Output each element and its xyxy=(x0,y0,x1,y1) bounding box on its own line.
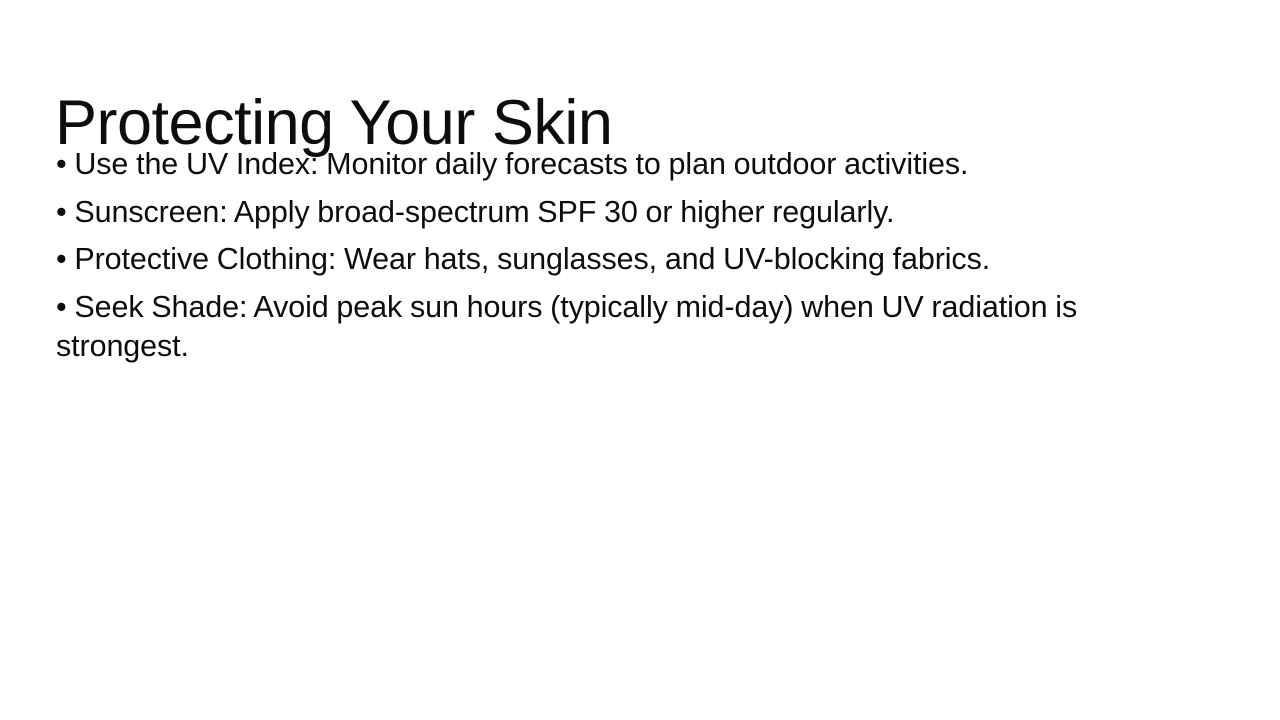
list-item-text: Protective Clothing: Wear hats, sunglass… xyxy=(74,242,990,276)
bullet-marker-icon: • xyxy=(56,242,67,276)
slide-canvas: Protecting Your Skin • Use the UV Index:… xyxy=(0,0,1280,720)
bullet-list: • Use the UV Index: Monitor daily foreca… xyxy=(56,145,1201,366)
bullet-marker-icon: • xyxy=(56,147,67,181)
list-item-text: Use the UV Index: Monitor daily forecast… xyxy=(74,147,968,181)
list-item: • Sunscreen: Apply broad-spectrum SPF 30… xyxy=(56,193,1201,232)
list-item: • Protective Clothing: Wear hats, sungla… xyxy=(56,240,1201,279)
list-item-text: Seek Shade: Avoid peak sun hours (typica… xyxy=(56,290,1077,363)
list-item: • Use the UV Index: Monitor daily foreca… xyxy=(56,145,1201,184)
bullet-marker-icon: • xyxy=(56,290,67,324)
list-item: • Seek Shade: Avoid peak sun hours (typi… xyxy=(56,288,1201,366)
bullet-marker-icon: • xyxy=(56,195,67,229)
list-item-text: Sunscreen: Apply broad-spectrum SPF 30 o… xyxy=(74,195,894,229)
